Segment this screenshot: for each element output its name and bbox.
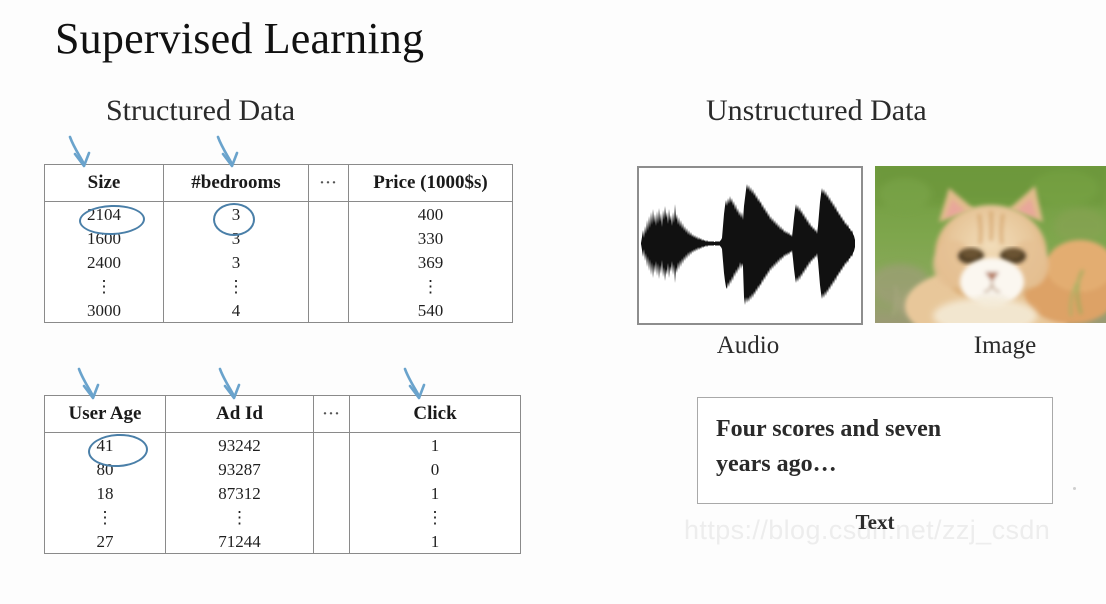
- cell-size: 1600: [45, 226, 164, 250]
- page-title: Supervised Learning: [55, 16, 424, 62]
- cell-size: 3000: [45, 298, 164, 323]
- table-row: 27 71244 1: [45, 529, 521, 554]
- column-header-ellipsis: ···: [314, 396, 350, 433]
- cell-size: ⋮: [45, 274, 164, 298]
- slide-canvas: Supervised Learning Structured Data Unst…: [0, 0, 1106, 604]
- image-caption: Image: [930, 332, 1080, 360]
- cell-ellipsis: [314, 457, 350, 481]
- unstructured-data-heading: Unstructured Data: [706, 94, 927, 128]
- text-sample-line-2: years ago…: [698, 447, 1052, 482]
- cell-price: 330: [349, 226, 513, 250]
- column-header-ad-id: Ad Id: [166, 396, 314, 433]
- cell-user-age: 18: [45, 481, 166, 505]
- table-row: 18 87312 1: [45, 481, 521, 505]
- cell-ad-id: 71244: [166, 529, 314, 554]
- column-header-ellipsis: ···: [309, 165, 349, 202]
- text-caption: Text: [697, 510, 1053, 535]
- column-header-click: Click: [350, 396, 521, 433]
- cell-price: 400: [349, 202, 513, 227]
- column-header-bedrooms: #bedrooms: [164, 165, 309, 202]
- cell-price: 369: [349, 250, 513, 274]
- cell-price: 540: [349, 298, 513, 323]
- table-row: 2104 3 400: [45, 202, 513, 227]
- cell-ellipsis: [309, 250, 349, 274]
- cell-click: 1: [350, 481, 521, 505]
- cell-ad-id: 93287: [166, 457, 314, 481]
- cell-ad-id: 87312: [166, 481, 314, 505]
- cell-click: ⋮: [350, 505, 521, 529]
- audio-waveform-icon: [639, 168, 857, 319]
- cat-photo: [875, 166, 1106, 323]
- column-header-user-age: User Age: [45, 396, 166, 433]
- cell-ellipsis: [309, 298, 349, 323]
- cell-ad-id: ⋮: [166, 505, 314, 529]
- table-row-continuation: ⋮ ⋮ ⋮: [45, 505, 521, 529]
- cell-click: 1: [350, 433, 521, 458]
- cell-user-age: 80: [45, 457, 166, 481]
- cell-bedrooms: 3: [164, 226, 309, 250]
- cell-click: 0: [350, 457, 521, 481]
- cell-size: 2400: [45, 250, 164, 274]
- cell-user-age: ⋮: [45, 505, 166, 529]
- table-row: 1600 3 330: [45, 226, 513, 250]
- text-sample-line-1: Four scores and seven: [698, 412, 1052, 447]
- audio-caption: Audio: [637, 332, 859, 360]
- cell-ellipsis: [314, 529, 350, 554]
- cell-bedrooms: 3: [164, 202, 309, 227]
- cell-price: ⋮: [349, 274, 513, 298]
- audio-waveform-box: [637, 166, 863, 325]
- table-row: 41 93242 1: [45, 433, 521, 458]
- structured-data-heading: Structured Data: [106, 94, 295, 128]
- table-row: 2400 3 369: [45, 250, 513, 274]
- table-row: 3000 4 540: [45, 298, 513, 323]
- column-header-size: Size: [45, 165, 164, 202]
- cell-ad-id: 93242: [166, 433, 314, 458]
- text-sample-box: Four scores and seven years ago…: [697, 397, 1053, 504]
- cell-user-age: 41: [45, 433, 166, 458]
- cell-size: 2104: [45, 202, 164, 227]
- table-row: 80 93287 0: [45, 457, 521, 481]
- cell-ellipsis: [309, 226, 349, 250]
- stray-dot: [1073, 487, 1076, 490]
- table-header-row: Size #bedrooms ··· Price (1000$s): [45, 165, 513, 202]
- cell-ellipsis: [309, 202, 349, 227]
- cell-ellipsis: [309, 274, 349, 298]
- table-header-row: User Age Ad Id ··· Click: [45, 396, 521, 433]
- cell-ellipsis: [314, 481, 350, 505]
- cell-bedrooms: 3: [164, 250, 309, 274]
- cat-photo-icon: [875, 166, 1106, 323]
- cell-user-age: 27: [45, 529, 166, 554]
- ad-click-table: User Age Ad Id ··· Click 41 93242 1 80 9…: [44, 395, 521, 554]
- cell-ellipsis: [314, 433, 350, 458]
- column-header-price: Price (1000$s): [349, 165, 513, 202]
- cell-click: 1: [350, 529, 521, 554]
- cell-ellipsis: [314, 505, 350, 529]
- cell-bedrooms: 4: [164, 298, 309, 323]
- housing-price-table: Size #bedrooms ··· Price (1000$s) 2104 3…: [44, 164, 513, 323]
- cell-bedrooms: ⋮: [164, 274, 309, 298]
- table-row-continuation: ⋮ ⋮ ⋮: [45, 274, 513, 298]
